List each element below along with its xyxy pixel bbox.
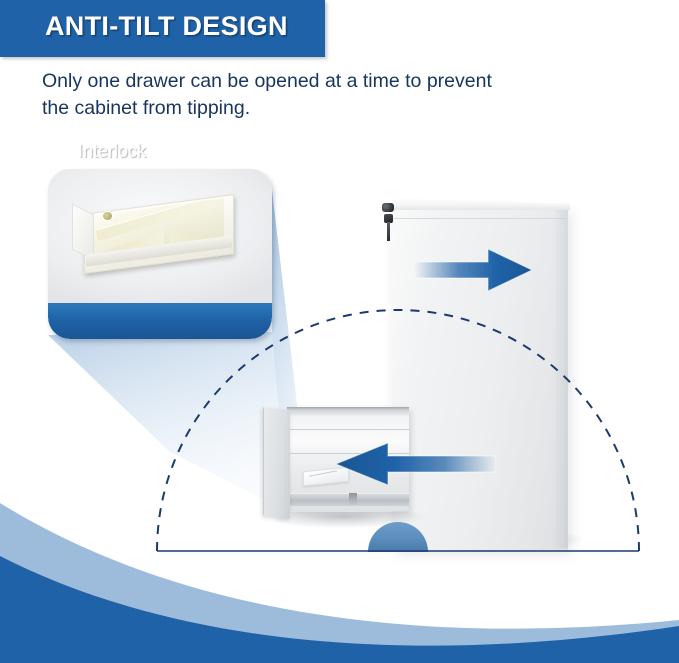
drawer-open-direction-arrow-icon bbox=[330, 440, 496, 488]
key-blade bbox=[387, 222, 390, 241]
swoosh-dark bbox=[0, 556, 679, 663]
cabinet-top-panel bbox=[392, 198, 570, 210]
interlock-end-bracket bbox=[72, 204, 94, 261]
cabinet-side-shading bbox=[552, 210, 568, 548]
interlock-callout-card bbox=[48, 169, 272, 339]
push-direction-arrow-icon bbox=[414, 246, 534, 294]
cabinet-lock-icon bbox=[382, 203, 394, 241]
infographic-page: ANTI-TILT DESIGN Only one drawer can be … bbox=[0, 0, 679, 663]
lock-barrel bbox=[382, 203, 394, 212]
interlock-label-bar bbox=[48, 303, 272, 339]
product-illustration: Interlock bbox=[0, 0, 679, 663]
cabinet-seam bbox=[394, 218, 566, 219]
interlock-screw-hole bbox=[102, 211, 113, 221]
drawer-edge-line-1 bbox=[287, 429, 409, 430]
interlock-photo bbox=[48, 169, 272, 303]
drawer-slide-rail bbox=[287, 493, 409, 506]
drawer-front-panel bbox=[263, 407, 290, 518]
interlock-label: Interlock bbox=[0, 141, 224, 162]
drawer-rail-clip bbox=[349, 493, 357, 505]
